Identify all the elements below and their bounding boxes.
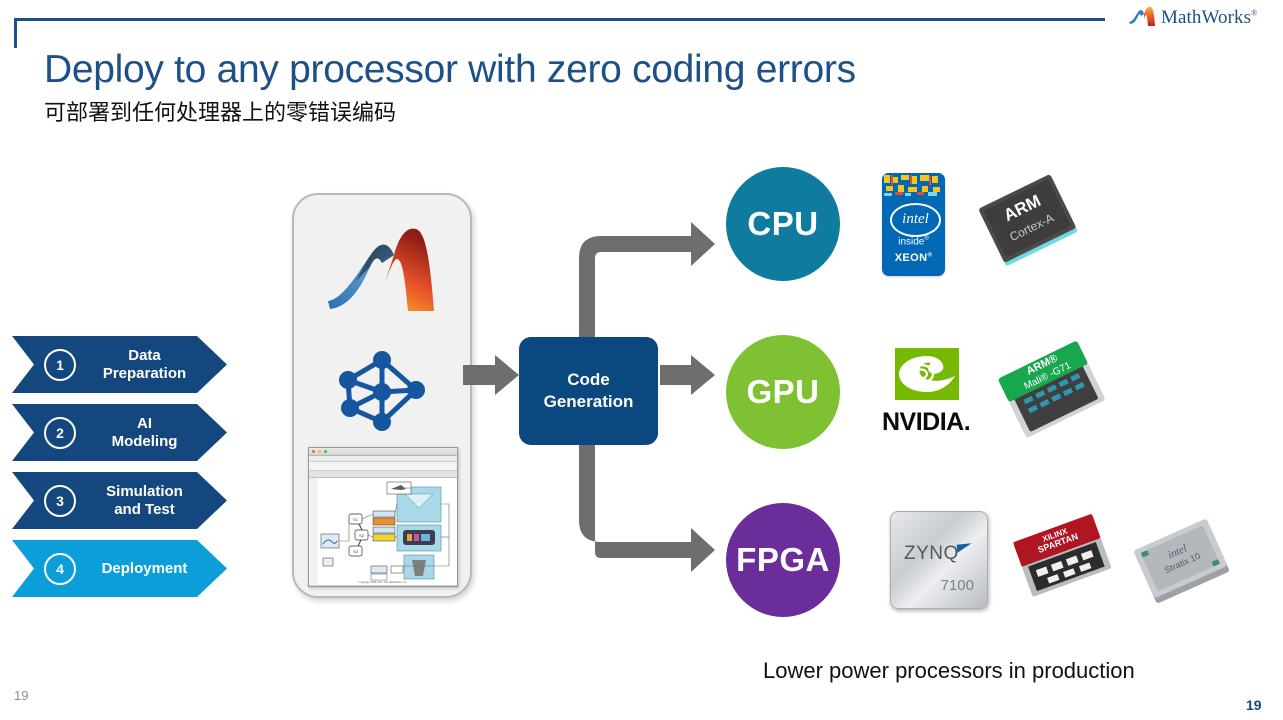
step-number-badge: 1 bbox=[44, 349, 76, 381]
neural-network-icon bbox=[336, 350, 428, 432]
step-number-badge: 2 bbox=[44, 417, 76, 449]
gpu-chip-logos: NVIDIA. bbox=[840, 336, 1112, 449]
xilinx-zynq-chip: ZYNQ 7100 bbox=[890, 511, 988, 609]
code-generation-block[interactable]: Code Generation bbox=[519, 337, 658, 445]
mathworks-logo: MathWorks® bbox=[1128, 7, 1257, 29]
step-label: AI Modeling bbox=[76, 415, 227, 451]
step-number-badge: 3 bbox=[44, 485, 76, 517]
workflow-step-data-preparation[interactable]: 1 Data Preparation bbox=[12, 336, 227, 393]
window-toolbar bbox=[309, 462, 457, 471]
matlab-simulink-device-mockup: S1S2S3 bbox=[292, 193, 472, 598]
workflow-step-simulation-and-test[interactable]: 3 Simulation and Test bbox=[12, 472, 227, 529]
gpu-label: GPU bbox=[746, 373, 819, 411]
step-number-badge: 4 bbox=[44, 553, 76, 585]
cpu-label: CPU bbox=[747, 205, 818, 243]
svg-text:S2: S2 bbox=[359, 533, 365, 538]
slide-root: MathWorks® Deploy to any processor with … bbox=[0, 0, 1283, 720]
svg-text:Copyright 2008-2017 The MathWo: Copyright 2008-2017 The MathWorks, Inc. bbox=[359, 580, 408, 584]
step-label: Deployment bbox=[76, 560, 227, 578]
zynq-model-number: 7100 bbox=[941, 577, 974, 594]
corner-bracket-vertical bbox=[14, 18, 17, 48]
svg-text:S1: S1 bbox=[353, 517, 359, 522]
workflow-step-deployment[interactable]: 4 Deployment bbox=[12, 540, 227, 597]
step-label: Simulation and Test bbox=[76, 483, 227, 519]
gpu-circle[interactable]: GPU bbox=[726, 335, 840, 449]
window-titlebar bbox=[309, 448, 457, 456]
code-generation-label: Code Generation bbox=[544, 369, 634, 413]
matlab-membrane-icon bbox=[326, 225, 438, 320]
intel-xeon-label: XEON® bbox=[882, 252, 945, 264]
workflow-steps: 1 Data Preparation 2 AI Modeling 3 Simul… bbox=[12, 336, 227, 608]
xilinx-mark-icon bbox=[957, 543, 973, 553]
arm-mali-g71-chip: ARM® Mali® -G71 bbox=[994, 336, 1112, 449]
cpu-circle[interactable]: CPU bbox=[726, 167, 840, 281]
simulink-canvas: S1S2S3 bbox=[309, 478, 457, 585]
registered-mark: ® bbox=[1251, 9, 1257, 18]
zynq-label: ZYNQ bbox=[904, 543, 959, 565]
target-row-fpga: FPGA ZYNQ 7100 XILINX bbox=[726, 503, 1236, 617]
mathworks-membrane-icon bbox=[1128, 7, 1156, 29]
window-model-tab bbox=[309, 471, 457, 478]
intel-xeon-badge: intel inside® XEON® bbox=[882, 173, 945, 276]
intel-inside-label: inside® bbox=[882, 236, 945, 247]
mathworks-wordmark: MathWorks® bbox=[1161, 7, 1257, 29]
arm-cortex-a-chip: ARM Cortex-A bbox=[975, 172, 1083, 277]
xilinx-spartan-chip: XILINX SPARTAN bbox=[1010, 506, 1118, 615]
fpga-label: FPGA bbox=[736, 541, 830, 579]
nvidia-wordmark: NVIDIA. bbox=[882, 408, 970, 437]
nvidia-eye-icon bbox=[885, 348, 967, 406]
target-row-gpu: GPU NVIDIA. bbox=[726, 335, 1112, 449]
window-statusbar bbox=[309, 585, 457, 587]
svg-text:S3: S3 bbox=[353, 549, 359, 554]
footer-caption: Lower power processors in production bbox=[763, 658, 1135, 684]
fpga-chip-logos: ZYNQ 7100 XILINX SPARTAN bbox=[840, 506, 1236, 615]
page-number-right: 19 bbox=[1246, 697, 1262, 713]
nvidia-logo: NVIDIA. bbox=[882, 348, 970, 437]
intel-wordmark: intel bbox=[890, 203, 941, 237]
corner-bracket-horizontal bbox=[14, 18, 1105, 21]
step-label: Data Preparation bbox=[76, 347, 227, 383]
simulink-model-window: S1S2S3 bbox=[308, 447, 458, 587]
target-row-cpu: CPU bbox=[726, 167, 1083, 281]
page-title: Deploy to any processor with zero coding… bbox=[44, 48, 856, 92]
page-subtitle: 可部署到任何处理器上的零错误编码 bbox=[44, 95, 396, 127]
circuit-pattern-icon bbox=[882, 173, 945, 199]
intel-stratix-10-chip: intel Stratix 10 bbox=[1126, 506, 1236, 615]
cpu-chip-logos: intel inside® XEON® ARM Cortex-A bbox=[840, 172, 1083, 277]
workflow-step-ai-modeling[interactable]: 2 AI Modeling bbox=[12, 404, 227, 461]
fpga-circle[interactable]: FPGA bbox=[726, 503, 840, 617]
page-number-left: 19 bbox=[14, 688, 28, 703]
